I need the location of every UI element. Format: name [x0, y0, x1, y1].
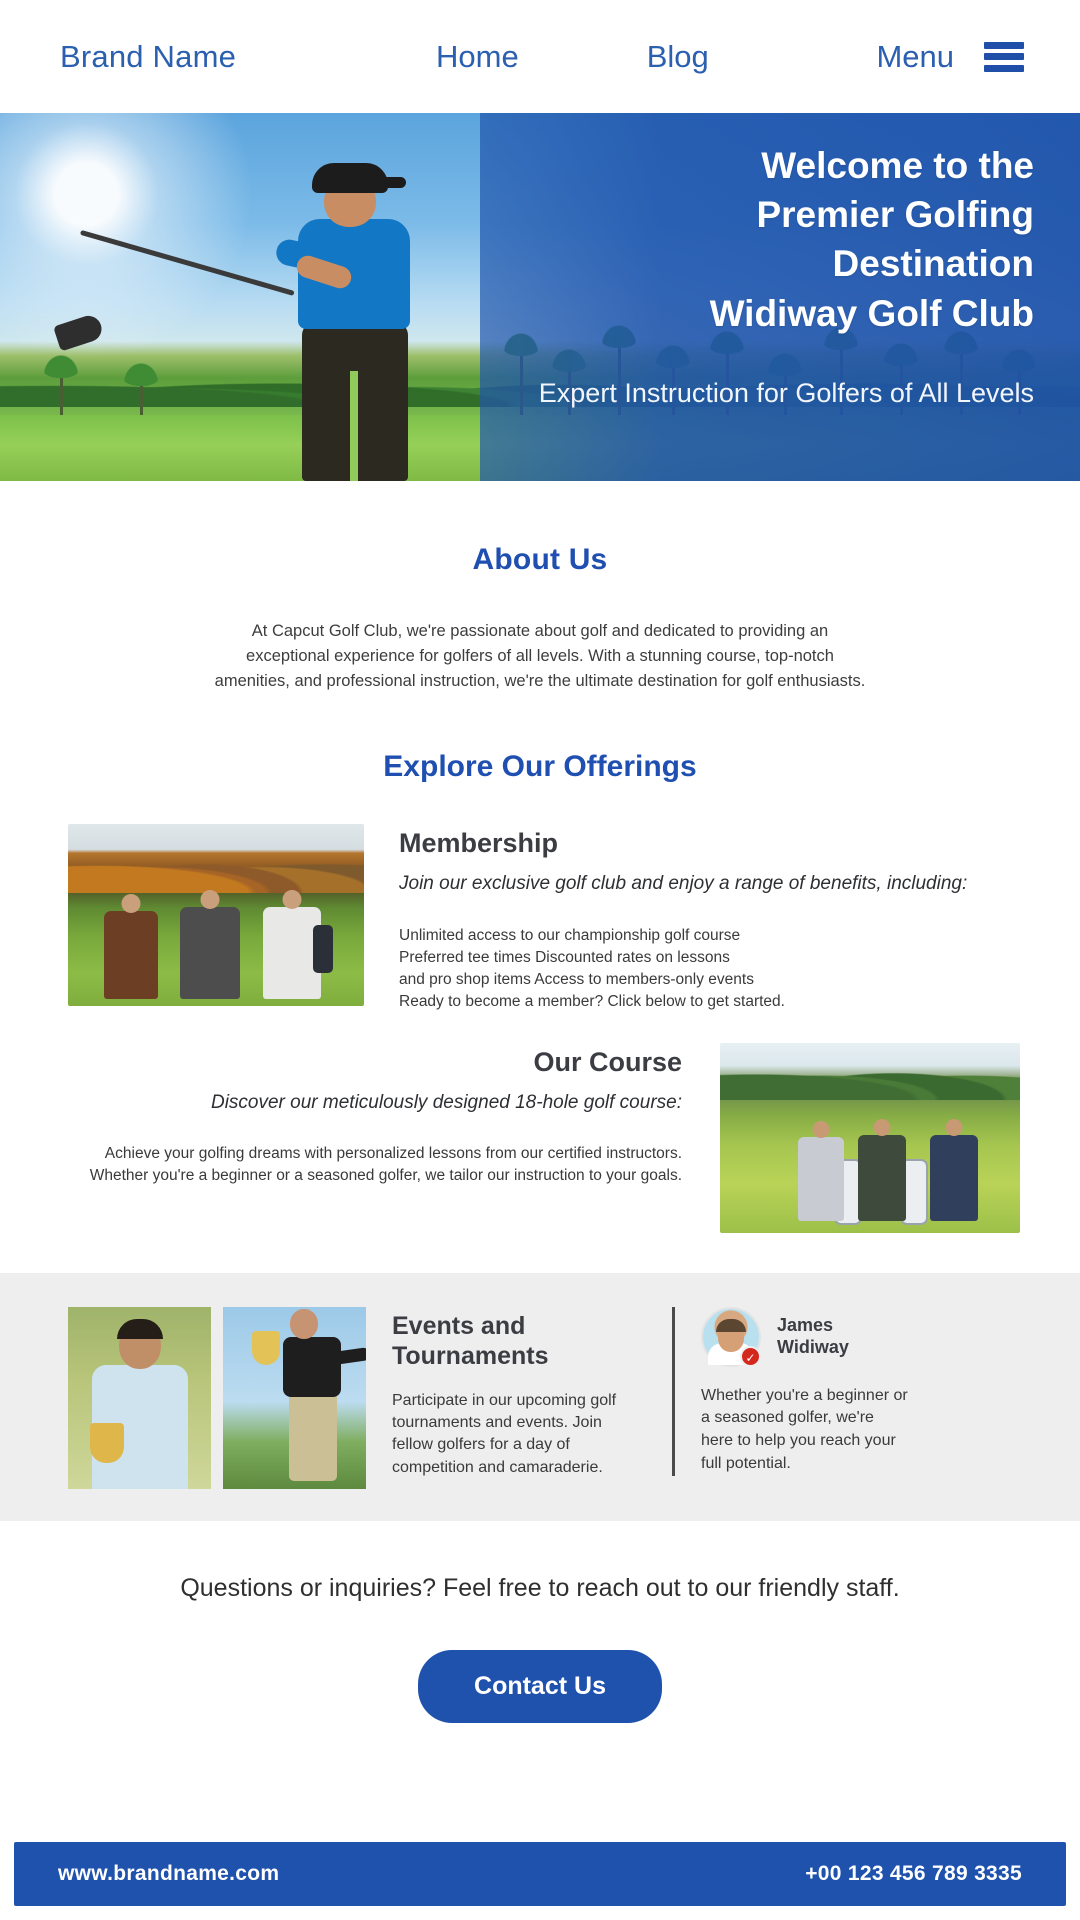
nav-link-blog[interactable]: Blog — [647, 39, 709, 75]
course-section: Our Course Discover our meticulously des… — [0, 1013, 1080, 1233]
hamburger-icon[interactable] — [984, 42, 1024, 72]
membership-benefit-line-1: Unlimited access to our championship gol… — [399, 925, 1020, 947]
testimonial-block: ✓ James Widiway Whether you're a beginne… — [672, 1307, 908, 1476]
footer-bar: www.brandname.com +00 123 456 789 3335 — [14, 1842, 1066, 1906]
course-subtitle: Discover our meticulously designed 18-ho… — [60, 1090, 682, 1115]
hero-text-block: Welcome to the Premier Golfing Destinati… — [474, 141, 1034, 412]
testimonial-quote: Whether you're a beginner or a seasoned … — [701, 1385, 908, 1476]
membership-section: Membership Join our exclusive golf club … — [0, 784, 1080, 1012]
nav-right-group: Menu — [876, 39, 1024, 75]
golfer-illustration — [268, 151, 458, 481]
about-body: At Capcut Golf Club, we're passionate ab… — [210, 619, 870, 694]
events-image-cup — [223, 1307, 366, 1489]
course-body: Achieve your golfing dreams with persona… — [60, 1143, 682, 1187]
cta-section: Questions or inquiries? Feel free to rea… — [0, 1521, 1080, 1724]
landing-page: Brand Name Home Blog Menu — [0, 0, 1080, 1920]
navbar: Brand Name Home Blog Menu — [0, 0, 1080, 113]
membership-subtitle: Join our exclusive golf club and enjoy a… — [399, 871, 1020, 896]
events-title-line-1: Events and — [392, 1311, 632, 1342]
events-image-trophy — [68, 1307, 211, 1489]
events-title-line-2: Tournaments — [392, 1341, 632, 1372]
verified-badge-icon: ✓ — [740, 1346, 761, 1367]
hero-title-line-3: Destination — [474, 239, 1034, 288]
avatar: ✓ — [701, 1307, 761, 1367]
course-title: Our Course — [60, 1047, 682, 1078]
membership-text-block: Membership Join our exclusive golf club … — [399, 824, 1020, 1012]
membership-title: Membership — [399, 828, 1020, 859]
offerings-title: Explore Our Offerings — [0, 750, 1080, 784]
testimonial-name: James Widiway — [777, 1315, 849, 1358]
hero-banner: Welcome to the Premier Golfing Destinati… — [0, 113, 1080, 481]
testimonial-header: ✓ James Widiway — [701, 1307, 908, 1367]
events-title: Events and Tournaments — [392, 1311, 632, 1372]
membership-benefits-list: Unlimited access to our championship gol… — [399, 925, 1020, 1013]
course-text-block: Our Course Discover our meticulously des… — [60, 1043, 682, 1187]
events-text-block: Events and Tournaments Participate in ou… — [392, 1307, 632, 1480]
cta-text: Questions or inquiries? Feel free to rea… — [0, 1571, 1080, 1607]
testimonial-name-line-2: Widiway — [777, 1337, 849, 1359]
membership-image — [68, 824, 364, 1006]
events-section: Events and Tournaments Participate in ou… — [0, 1273, 1080, 1521]
hero-title-line-2: Premier Golfing — [474, 190, 1034, 239]
hero-title: Welcome to the Premier Golfing Destinati… — [474, 141, 1034, 338]
membership-benefit-line-4: Ready to become a member? Click below to… — [399, 991, 1020, 1013]
membership-benefit-line-3: and pro shop items Access to members-onl… — [399, 969, 1020, 991]
brand-name[interactable]: Brand Name — [60, 39, 236, 75]
nav-link-menu[interactable]: Menu — [876, 39, 954, 75]
membership-benefit-line-2: Preferred tee times Discounted rates on … — [399, 947, 1020, 969]
events-body: Participate in our upcoming golf tournam… — [392, 1390, 632, 1480]
events-images — [68, 1307, 366, 1489]
hero-title-line-1: Welcome to the — [474, 141, 1034, 190]
contact-us-button[interactable]: Contact Us — [418, 1650, 662, 1723]
hero-subtitle: Expert Instruction for Golfers of All Le… — [474, 376, 1034, 412]
hero-title-line-4: Widiway Golf Club — [474, 289, 1034, 338]
nav-link-home[interactable]: Home — [436, 39, 519, 75]
footer-phone[interactable]: +00 123 456 789 3335 — [805, 1862, 1022, 1886]
about-section: About Us At Capcut Golf Club, we're pass… — [0, 481, 1080, 784]
course-image — [720, 1043, 1020, 1233]
footer-website[interactable]: www.brandname.com — [58, 1862, 279, 1886]
nav-links: Home Blog — [436, 39, 709, 75]
about-title: About Us — [0, 543, 1080, 577]
testimonial-name-line-1: James — [777, 1315, 849, 1337]
